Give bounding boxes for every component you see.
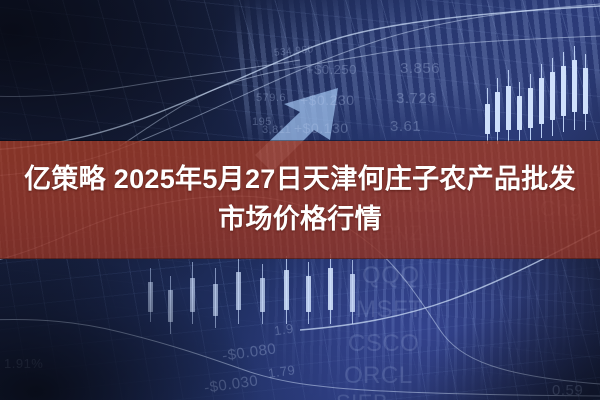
title-line-1: 亿策略 2025年5月27日天津何庄子农产品批发 — [24, 163, 576, 197]
page-title: 亿策略 2025年5月27日天津何庄子农产品批发 市场价格行情 — [0, 141, 600, 259]
title-line-2: 市场价格行情 — [218, 203, 382, 237]
cover-image: +$0.250 +$0.230 +$0.130 3.856 3.726 3.61… — [0, 0, 600, 400]
